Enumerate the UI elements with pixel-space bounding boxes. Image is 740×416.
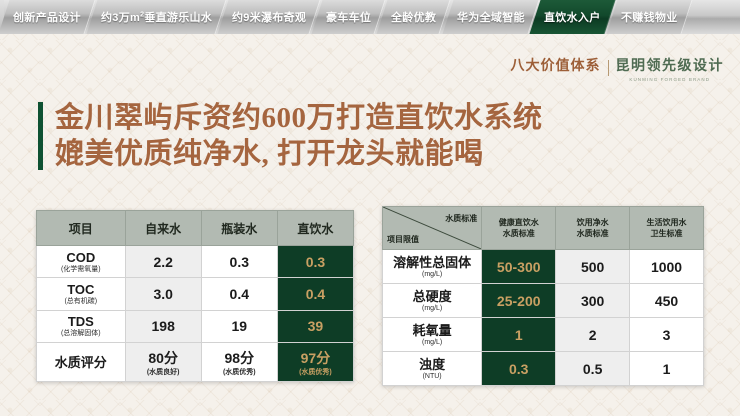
cell-tds-bottled: 19 [201, 310, 277, 342]
cell-toc-direct: 0.4 [277, 278, 353, 310]
cell-value: 3 [630, 327, 703, 343]
cell-toc-bottled: 0.4 [201, 278, 277, 310]
cell-value: 1 [482, 327, 555, 343]
headline-line-1: 金川翠屿斥资约600万打造直饮水系统 [55, 100, 543, 136]
row-label-main: 水质评分 [37, 355, 125, 370]
cell-toc-tap: 3.0 [125, 278, 201, 310]
nav-tab-3[interactable]: 豪车车位 [312, 0, 386, 34]
brand-right-en: KUNMING FORGED BRAND [629, 77, 710, 82]
cell-turbidity-healthy: 0.3 [482, 352, 556, 386]
cell-score-tap: 80分 (水质良好) [125, 343, 201, 382]
cell-value-sub: (水质优秀) [278, 368, 353, 377]
table-header-row: 水质标准 项目限值 健康直饮水 水质标准 饮用净水 水质标准 生活饮用水 卫生标… [383, 207, 704, 250]
cell-tds-tap: 198 [125, 310, 201, 342]
cell-value: 3.0 [126, 286, 201, 302]
cell-value: 198 [126, 318, 201, 334]
nav-tab-label: 豪车车位 [326, 9, 371, 25]
cell-cod-tap: 2.2 [125, 246, 201, 278]
table-left-body: COD (化学需氧量) 2.2 0.3 0.3 TOC (总有机碳) [37, 246, 354, 382]
cell-value: 2.2 [126, 254, 201, 270]
cell-turbidity-purified: 0.5 [556, 352, 630, 386]
row-label-main: TOC [37, 282, 125, 297]
cell-score-direct: 97分 (水质优秀) [277, 343, 353, 382]
table-row: TDS (总溶解固体) 198 19 39 [37, 310, 354, 342]
col-header-purified-drinking: 饮用净水 水质标准 [556, 207, 630, 250]
cell-oxygen-purified: 2 [556, 318, 630, 352]
col-header-line: 饮用净水 [556, 217, 629, 228]
headline-accent-bar [38, 102, 43, 170]
nav-tab-label: 创新产品设计 [13, 9, 81, 25]
row-label-sub: (总溶解固体) [37, 329, 125, 338]
nav-tab-1[interactable]: 约3万m2垂直游乐山水 [86, 0, 226, 34]
corner-header-diagonal: 水质标准 项目限值 [383, 207, 482, 250]
cell-value: 1000 [630, 259, 703, 275]
headline-line-2: 媲美优质纯净水, 打开龙头就能喝 [55, 136, 543, 172]
row-label-sub: (总有机碳) [37, 297, 125, 306]
row-label-tds-solids: 溶解性总固体 (mg/L) [383, 250, 482, 284]
brand-right-cn: 昆明领先级设计 [616, 58, 725, 76]
cell-value: 1 [630, 361, 703, 377]
col-header-line: 水质标准 [482, 228, 555, 239]
table-row: 浊度 (NTU) 0.3 0.5 1 [383, 352, 704, 386]
cell-value-sub: (水质良好) [126, 368, 201, 377]
brand-divider [608, 60, 609, 76]
row-label-main: COD [37, 250, 125, 265]
cell-value: 39 [278, 318, 353, 334]
table-row: COD (化学需氧量) 2.2 0.3 0.3 [37, 246, 354, 278]
cell-solids-purified: 500 [556, 250, 630, 284]
cell-cod-bottled: 0.3 [201, 246, 277, 278]
corner-header-top-label: 水质标准 [445, 213, 477, 224]
brand-lockup: 八大价值体系 昆明领先级设计 KUNMING FORGED BRAND [511, 58, 725, 82]
row-label-main: 耗氧量 [383, 323, 481, 338]
nav-tab-6-active[interactable]: 直饮水入户 [530, 0, 616, 34]
nav-tab-label: 华为全域智能 [457, 9, 525, 25]
nav-tab-label: 约3万m2垂直游乐山水 [101, 9, 212, 25]
cell-hardness-healthy: 25-200 [482, 284, 556, 318]
cell-value: 0.3 [278, 254, 353, 270]
cell-value: 97分 [278, 348, 353, 368]
table-right-head: 水质标准 项目限值 健康直饮水 水质标准 饮用净水 水质标准 生活饮用水 卫生标… [383, 207, 704, 250]
nav-tab-5[interactable]: 华为全域智能 [442, 0, 539, 34]
cell-value: 0.3 [482, 361, 555, 377]
cell-solids-healthy: 50-300 [482, 250, 556, 284]
table-row: 水质评分 80分 (水质良好) 98分 (水质优秀) 97分 (水质优秀) [37, 343, 354, 382]
water-standards-table: 水质标准 项目限值 健康直饮水 水质标准 饮用净水 水质标准 生活饮用水 卫生标… [382, 206, 704, 386]
col-header-line: 卫生标准 [630, 228, 703, 239]
row-label-sub: (mg/L) [383, 270, 481, 279]
col-header-line: 生活饮用水 [630, 217, 703, 228]
row-label-sub: (NTU) [383, 372, 481, 381]
cell-value-sub: (水质优秀) [202, 368, 277, 377]
row-label-sub: (化学需氧量) [37, 265, 125, 274]
cell-value: 450 [630, 293, 703, 309]
cell-cod-direct: 0.3 [277, 246, 353, 278]
cell-value: 300 [556, 293, 629, 309]
table-row: 溶解性总固体 (mg/L) 50-300 500 1000 [383, 250, 704, 284]
table-right-grid: 水质标准 项目限值 健康直饮水 水质标准 饮用净水 水质标准 生活饮用水 卫生标… [382, 206, 704, 386]
row-label-score: 水质评分 [37, 343, 126, 382]
row-label-cod: COD (化学需氧量) [37, 246, 126, 278]
col-header-domestic-drinking: 生活饮用水 卫生标准 [630, 207, 704, 250]
cell-value: 0.4 [278, 286, 353, 302]
row-label-oxygen-consumption: 耗氧量 (mg/L) [383, 318, 482, 352]
headline-text: 金川翠屿斥资约600万打造直饮水系统 媲美优质纯净水, 打开龙头就能喝 [55, 100, 543, 172]
table-left-grid: 项目 自来水 瓶装水 直饮水 COD (化学需氧量) 2.2 0.3 0.3 [36, 210, 354, 382]
table-row: 耗氧量 (mg/L) 1 2 3 [383, 318, 704, 352]
cell-turbidity-domestic: 1 [630, 352, 704, 386]
cell-oxygen-domestic: 3 [630, 318, 704, 352]
table-right-body: 溶解性总固体 (mg/L) 50-300 500 1000 总硬度 (mg/L) [383, 250, 704, 386]
cell-hardness-domestic: 450 [630, 284, 704, 318]
cell-value: 25-200 [482, 293, 555, 309]
row-label-main: 溶解性总固体 [383, 255, 481, 270]
brand-right: 昆明领先级设计 KUNMING FORGED BRAND [616, 58, 725, 82]
corner-header-bottom-label: 项目限值 [387, 234, 419, 245]
cell-solids-domestic: 1000 [630, 250, 704, 284]
cell-hardness-purified: 300 [556, 284, 630, 318]
nav-tab-7[interactable]: 不赚钱物业 [606, 0, 692, 34]
col-header-direct-drink-water: 直饮水 [277, 211, 353, 246]
col-header-healthy-direct-drink: 健康直饮水 水质标准 [482, 207, 556, 250]
top-nav: 创新产品设计 约3万m2垂直游乐山水 约9米瀑布奇观 豪车车位 全龄优教 华为全… [0, 0, 740, 34]
headline-block: 金川翠屿斥资约600万打造直饮水系统 媲美优质纯净水, 打开龙头就能喝 [38, 100, 543, 172]
table-row: 总硬度 (mg/L) 25-200 300 450 [383, 284, 704, 318]
table-row: TOC (总有机碳) 3.0 0.4 0.4 [37, 278, 354, 310]
row-label-toc: TOC (总有机碳) [37, 278, 126, 310]
row-label-main: 浊度 [383, 357, 481, 372]
cell-value: 50-300 [482, 259, 555, 275]
row-label-sub: (mg/L) [383, 304, 481, 313]
col-header-line: 水质标准 [556, 228, 629, 239]
water-comparison-table: 项目 自来水 瓶装水 直饮水 COD (化学需氧量) 2.2 0.3 0.3 [36, 210, 354, 382]
col-header-bottled-water: 瓶装水 [201, 211, 277, 246]
nav-tab-label: 不赚钱物业 [621, 9, 678, 25]
cell-value: 0.3 [202, 254, 277, 270]
row-label-turbidity: 浊度 (NTU) [383, 352, 482, 386]
table-header-row: 项目 自来水 瓶装水 直饮水 [37, 211, 354, 246]
row-label-main: TDS [37, 314, 125, 329]
nav-tab-label: 直饮水入户 [544, 9, 601, 25]
row-label-hardness: 总硬度 (mg/L) [383, 284, 482, 318]
nav-tab-0[interactable]: 创新产品设计 [0, 0, 95, 34]
cell-value: 0.4 [202, 286, 277, 302]
cell-value: 500 [556, 259, 629, 275]
cell-value: 80分 [126, 348, 201, 368]
col-header-tap-water: 自来水 [125, 211, 201, 246]
cell-value: 0.5 [556, 361, 629, 377]
cell-value: 98分 [202, 348, 277, 368]
cell-tds-direct: 39 [277, 310, 353, 342]
col-header-item: 项目 [37, 211, 126, 246]
cell-value: 2 [556, 327, 629, 343]
cell-value: 19 [202, 318, 277, 334]
nav-tab-4[interactable]: 全龄优教 [377, 0, 451, 34]
nav-tab-label: 全龄优教 [391, 9, 436, 25]
row-label-sub: (mg/L) [383, 338, 481, 347]
cell-score-bottled: 98分 (水质优秀) [201, 343, 277, 382]
row-label-tds: TDS (总溶解固体) [37, 310, 126, 342]
table-left-head: 项目 自来水 瓶装水 直饮水 [37, 211, 354, 246]
col-header-line: 健康直饮水 [482, 217, 555, 228]
nav-tab-label: 约9米瀑布奇观 [232, 9, 306, 25]
cell-oxygen-healthy: 1 [482, 318, 556, 352]
brand-left-text: 八大价值体系 [511, 58, 601, 76]
row-label-main: 总硬度 [383, 289, 481, 304]
nav-tab-2[interactable]: 约9米瀑布奇观 [217, 0, 320, 34]
